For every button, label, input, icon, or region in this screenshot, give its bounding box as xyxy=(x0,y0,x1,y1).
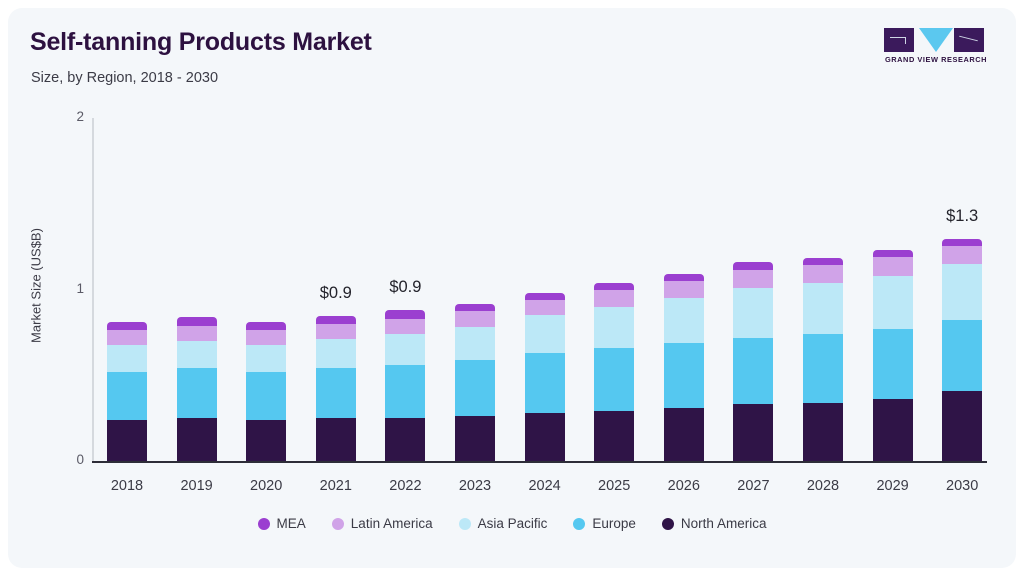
segment-north-america[interactable] xyxy=(385,418,425,461)
legend-item-latin-america[interactable]: Latin America xyxy=(332,516,433,531)
y-axis-label: Market Size (US$B) xyxy=(29,196,44,376)
segment-europe[interactable] xyxy=(525,353,565,413)
x-tick-label-2024: 2024 xyxy=(505,478,585,494)
legend-swatch-icon xyxy=(573,518,585,530)
segment-latin-america[interactable] xyxy=(525,300,565,315)
segment-mea[interactable] xyxy=(177,317,217,326)
segment-asia-pacific[interactable] xyxy=(385,334,425,365)
legend-swatch-icon xyxy=(459,518,471,530)
legend-swatch-icon xyxy=(332,518,344,530)
bar-2023[interactable] xyxy=(455,118,495,461)
segment-north-america[interactable] xyxy=(733,404,773,461)
segment-north-america[interactable] xyxy=(942,391,982,461)
legend-label: North America xyxy=(681,516,767,531)
segment-mea[interactable] xyxy=(107,322,147,331)
segment-mea[interactable] xyxy=(385,310,425,319)
bar-2020[interactable] xyxy=(246,118,286,461)
segment-asia-pacific[interactable] xyxy=(873,276,913,329)
bar-2030[interactable] xyxy=(942,118,982,461)
chart-legend: MEALatin AmericaAsia PacificEuropeNorth … xyxy=(8,516,1016,531)
segment-europe[interactable] xyxy=(177,368,217,418)
segment-mea[interactable] xyxy=(246,322,286,331)
x-tick-label-2018: 2018 xyxy=(87,478,167,494)
x-tick-label-2030: 2030 xyxy=(922,478,1002,494)
x-tick-label-2021: 2021 xyxy=(296,478,376,494)
segment-europe[interactable] xyxy=(664,343,704,408)
segment-north-america[interactable] xyxy=(803,403,843,461)
x-tick-label-2028: 2028 xyxy=(783,478,863,494)
x-tick-label-2027: 2027 xyxy=(713,478,793,494)
legend-swatch-icon xyxy=(662,518,674,530)
x-axis-line xyxy=(92,461,987,463)
segment-mea[interactable] xyxy=(664,274,704,281)
legend-label: Latin America xyxy=(351,516,433,531)
segment-asia-pacific[interactable] xyxy=(316,339,356,368)
segment-europe[interactable] xyxy=(385,365,425,418)
bar-2025[interactable] xyxy=(594,118,634,461)
legend-item-europe[interactable]: Europe xyxy=(573,516,636,531)
segment-north-america[interactable] xyxy=(664,408,704,461)
x-tick-label-2026: 2026 xyxy=(644,478,724,494)
segment-latin-america[interactable] xyxy=(455,311,495,327)
bar-2019[interactable] xyxy=(177,118,217,461)
x-tick-label-2019: 2019 xyxy=(157,478,237,494)
bar-2027[interactable] xyxy=(733,118,773,461)
segment-mea[interactable] xyxy=(525,293,565,300)
segment-asia-pacific[interactable] xyxy=(803,283,843,334)
segment-latin-america[interactable] xyxy=(873,257,913,276)
segment-mea[interactable] xyxy=(733,262,773,270)
legend-label: MEA xyxy=(277,516,306,531)
segment-asia-pacific[interactable] xyxy=(246,345,286,372)
segment-europe[interactable] xyxy=(246,372,286,420)
segment-latin-america[interactable] xyxy=(733,270,773,288)
segment-mea[interactable] xyxy=(594,283,634,290)
x-tick-label-2029: 2029 xyxy=(853,478,933,494)
segment-europe[interactable] xyxy=(455,360,495,417)
segment-asia-pacific[interactable] xyxy=(664,298,704,343)
segment-north-america[interactable] xyxy=(455,416,495,461)
legend-item-north-america[interactable]: North America xyxy=(662,516,767,531)
legend-item-asia-pacific[interactable]: Asia Pacific xyxy=(459,516,548,531)
y-tick-label: 1 xyxy=(44,281,84,296)
y-tick-label: 0 xyxy=(44,452,84,467)
segment-north-america[interactable] xyxy=(594,411,634,461)
segment-latin-america[interactable] xyxy=(942,246,982,264)
segment-north-america[interactable] xyxy=(873,399,913,461)
segment-latin-america[interactable] xyxy=(594,290,634,306)
segment-north-america[interactable] xyxy=(525,413,565,461)
segment-asia-pacific[interactable] xyxy=(594,307,634,348)
legend-label: Asia Pacific xyxy=(478,516,548,531)
segment-europe[interactable] xyxy=(803,334,843,403)
segment-asia-pacific[interactable] xyxy=(107,345,147,372)
segment-europe[interactable] xyxy=(107,372,147,420)
segment-latin-america[interactable] xyxy=(316,324,356,339)
legend-label: Europe xyxy=(592,516,636,531)
x-tick-label-2020: 2020 xyxy=(226,478,306,494)
segment-asia-pacific[interactable] xyxy=(177,341,217,368)
segment-asia-pacific[interactable] xyxy=(525,315,565,353)
segment-mea[interactable] xyxy=(873,250,913,257)
bar-2029[interactable] xyxy=(873,118,913,461)
bar-2028[interactable] xyxy=(803,118,843,461)
segment-latin-america[interactable] xyxy=(664,281,704,298)
segment-asia-pacific[interactable] xyxy=(733,288,773,338)
segment-north-america[interactable] xyxy=(246,420,286,461)
segment-europe[interactable] xyxy=(873,329,913,399)
legend-swatch-icon xyxy=(258,518,270,530)
x-tick-label-2023: 2023 xyxy=(435,478,515,494)
segment-europe[interactable] xyxy=(733,338,773,405)
bar-2026[interactable] xyxy=(664,118,704,461)
segment-north-america[interactable] xyxy=(177,418,217,461)
chart-card: Self-tanning Products Market Size, by Re… xyxy=(8,8,1016,568)
segment-asia-pacific[interactable] xyxy=(942,264,982,321)
segment-mea[interactable] xyxy=(455,304,495,312)
segment-mea[interactable] xyxy=(316,316,356,325)
segment-mea[interactable] xyxy=(803,258,843,265)
bar-2018[interactable] xyxy=(107,118,147,461)
segment-europe[interactable] xyxy=(594,348,634,411)
bar-2024[interactable] xyxy=(525,118,565,461)
segment-europe[interactable] xyxy=(942,320,982,390)
segment-north-america[interactable] xyxy=(316,418,356,461)
y-axis-line xyxy=(92,118,94,461)
segment-north-america[interactable] xyxy=(107,420,147,461)
x-tick-label-2025: 2025 xyxy=(574,478,654,494)
segment-asia-pacific[interactable] xyxy=(455,327,495,360)
stacked-bar-chart: Market Size (US$B) 012 20182019202020212… xyxy=(8,8,1016,568)
y-tick-label: 2 xyxy=(44,109,84,124)
segment-mea[interactable] xyxy=(942,239,982,246)
bar-label-2030: $1.3 xyxy=(917,207,1007,226)
segment-latin-america[interactable] xyxy=(107,330,147,345)
segment-latin-america[interactable] xyxy=(246,330,286,345)
segment-latin-america[interactable] xyxy=(177,326,217,341)
legend-item-mea[interactable]: MEA xyxy=(258,516,306,531)
x-tick-label-2022: 2022 xyxy=(365,478,445,494)
segment-latin-america[interactable] xyxy=(385,319,425,334)
bar-label-2022: $0.9 xyxy=(360,278,450,297)
segment-latin-america[interactable] xyxy=(803,265,843,283)
segment-europe[interactable] xyxy=(316,368,356,418)
